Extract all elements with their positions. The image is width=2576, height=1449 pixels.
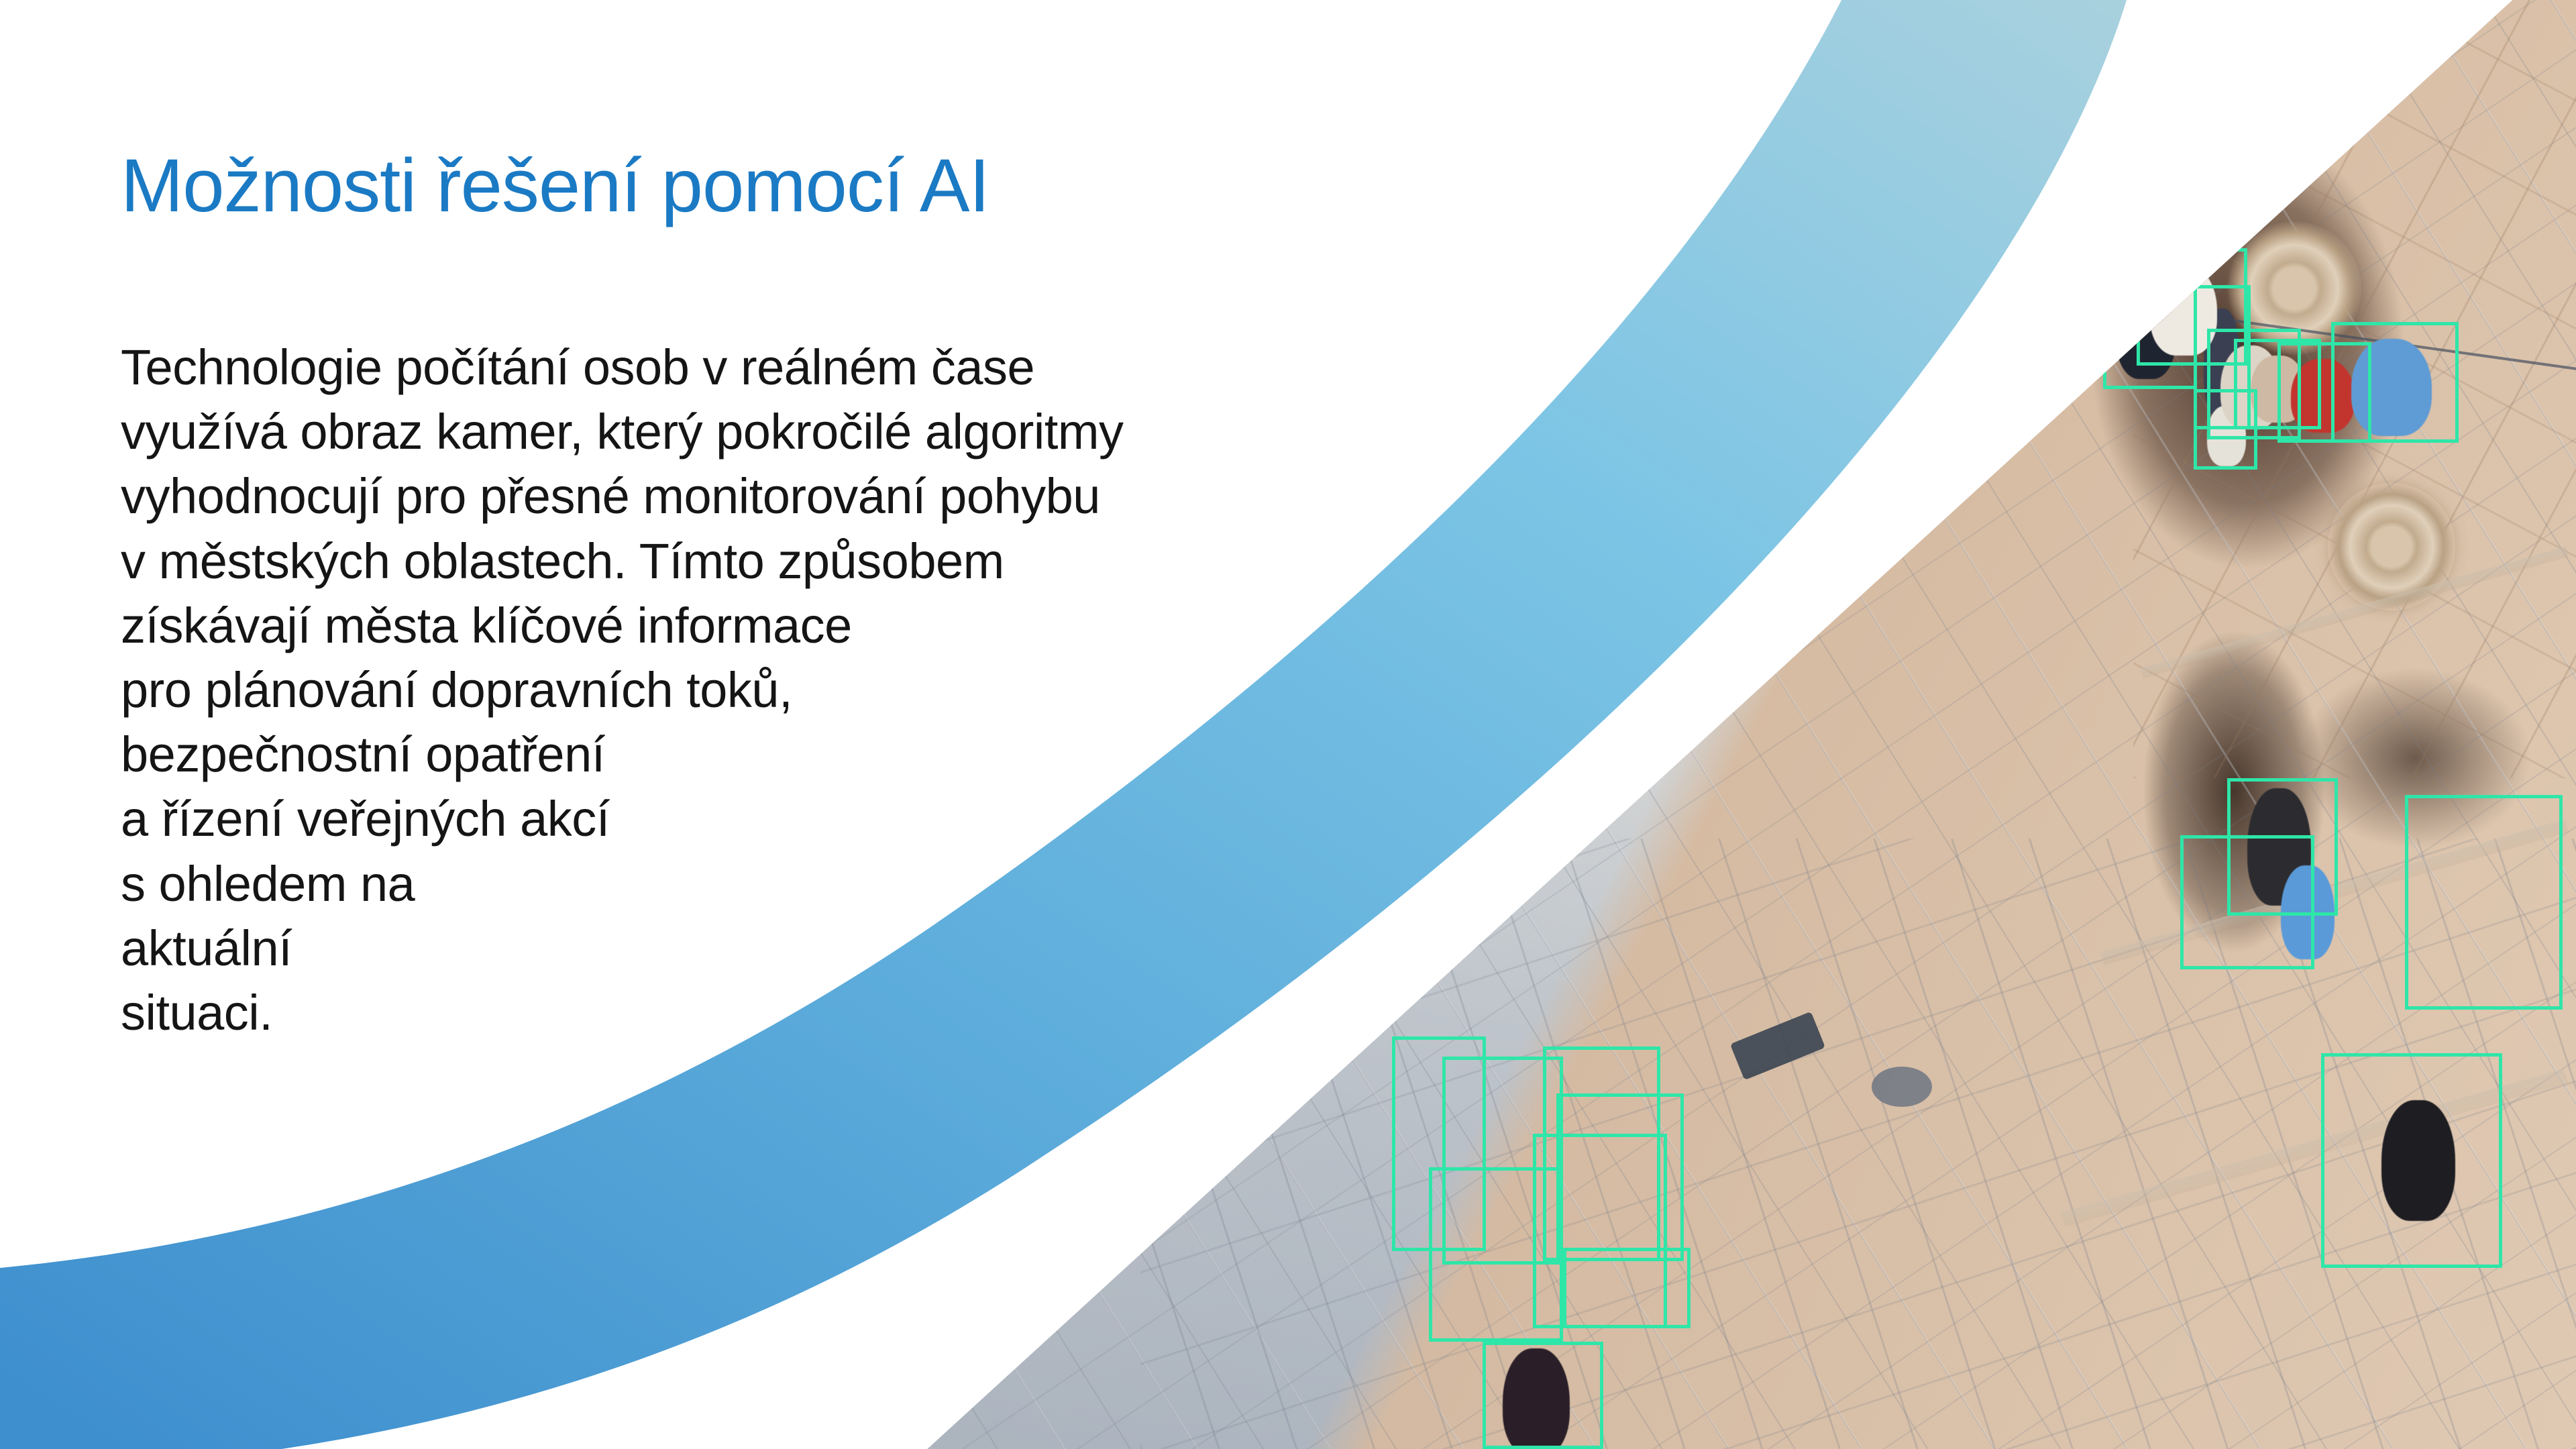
detection-box [1570, 305, 1644, 396]
detection-box [2043, 114, 2127, 205]
detection-box [1472, 453, 1576, 570]
body-paragraph: Technologie počítání osob v reálném čase… [121, 335, 1124, 1045]
pedestrian [1945, 215, 1999, 302]
slide-canvas: Možnosti řešení pomocí AI Technologie po… [0, 0, 2576, 1449]
pedestrian [1909, 164, 1972, 258]
pedestrian [1989, 178, 2053, 272]
body-line: Technologie počítání osob v reálném čase [121, 335, 1124, 400]
detection-box [2405, 795, 2563, 1010]
detection-box [1650, 275, 1711, 345]
pedestrian [1969, 268, 2026, 362]
detection-box [1979, 164, 2086, 285]
body-line: vyhodnocují pro přesné monitorování pohy… [121, 464, 1124, 529]
dark-signboard [1896, 0, 2028, 60]
pedestrian [1633, 322, 1679, 392]
pedestrian [1694, 335, 1746, 419]
body-line: s ohledem na [121, 852, 1124, 916]
detection-box [1952, 255, 2046, 372]
detection-box [1925, 285, 1992, 382]
body-line: aktuální [121, 916, 1124, 981]
pedestrian-sun-hat [1566, 352, 1611, 390]
manhole-cover [1872, 1067, 1932, 1107]
detection-box [1862, 231, 1942, 322]
detection-box [2321, 1053, 2502, 1268]
body-line: získávají města klíčové informace [121, 594, 1124, 658]
pedestrian [1587, 325, 1633, 389]
pedestrian [1939, 302, 1980, 372]
pedestrian [1472, 577, 1527, 651]
text-content: Možnosti řešení pomocí AI Technologie po… [0, 0, 1476, 1449]
pedestrian [1493, 473, 1553, 557]
detection-box [2180, 835, 2314, 969]
detection-box [1976, 315, 2049, 416]
detection-box [1831, 0, 1942, 84]
body-line: situaci. [121, 981, 1124, 1045]
detection-box [1523, 342, 1633, 463]
pedestrian [1664, 292, 1703, 340]
body-line: využívá obraz kamer, který pokročilé alg… [121, 400, 1124, 464]
pedestrian-backpack [1955, 228, 2002, 275]
detection-box [1677, 315, 1758, 426]
pedestrian-green-dress [1543, 359, 1610, 453]
detection-box [2331, 322, 2459, 443]
detection-box [1563, 1248, 1690, 1328]
detection-box [2053, 7, 2127, 80]
detection-box [1620, 305, 1690, 399]
detection-box [1932, 201, 2019, 322]
pedestrian-head [1945, 154, 1976, 181]
body-line: bezpečnostní opatření [121, 722, 1124, 787]
pedestrian [1875, 20, 1922, 87]
body-line: v městských oblastech. Tímto způsobem [121, 529, 1124, 594]
page-title: Možnosti řešení pomocí AI [121, 146, 989, 225]
pedestrian [2056, 131, 2106, 195]
detection-box [2026, 37, 2113, 124]
body-line: pro plánování dopravních toků, [121, 658, 1124, 722]
pedestrian [1989, 335, 2036, 409]
detection-box [1483, 1342, 1603, 1449]
detection-box [1556, 1093, 1684, 1261]
pedestrian [2049, 7, 2103, 64]
body-line: a řízení veřejných akcí [121, 787, 1124, 851]
red-banner [1860, 0, 1984, 94]
pedestrian [1872, 245, 1922, 309]
detection-box [1888, 134, 2016, 272]
